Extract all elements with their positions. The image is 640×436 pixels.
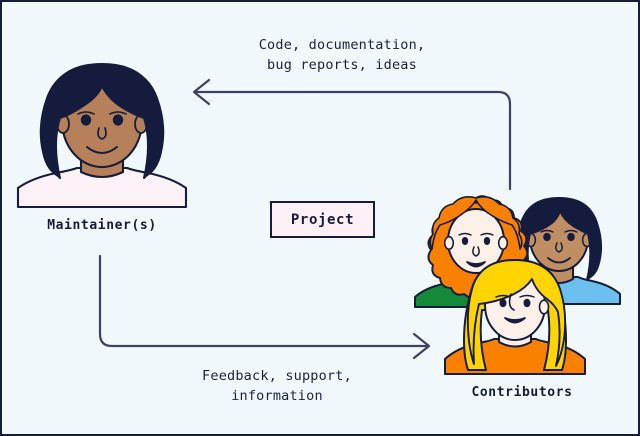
arrow-contributors-to-maintainer (194, 80, 510, 189)
project-box-label: Project (291, 212, 354, 228)
node-label-maintainer: Maintainer(s) (2, 218, 202, 233)
contributors-avatar-group (415, 196, 620, 374)
arrow-maintainer-to-contributors (100, 256, 429, 358)
diagram-canvas: Code, documentation, bug reports, ideas … (0, 0, 640, 436)
maintainer-avatar (18, 64, 186, 207)
node-label-contributors: Contributors (412, 385, 632, 400)
edge-label-maintainer-to-contributors: Feedback, support, information (147, 366, 407, 406)
project-box: Project (270, 201, 375, 238)
edge-label-contributors-to-maintainer: Code, documentation, bug reports, ideas (212, 35, 472, 75)
